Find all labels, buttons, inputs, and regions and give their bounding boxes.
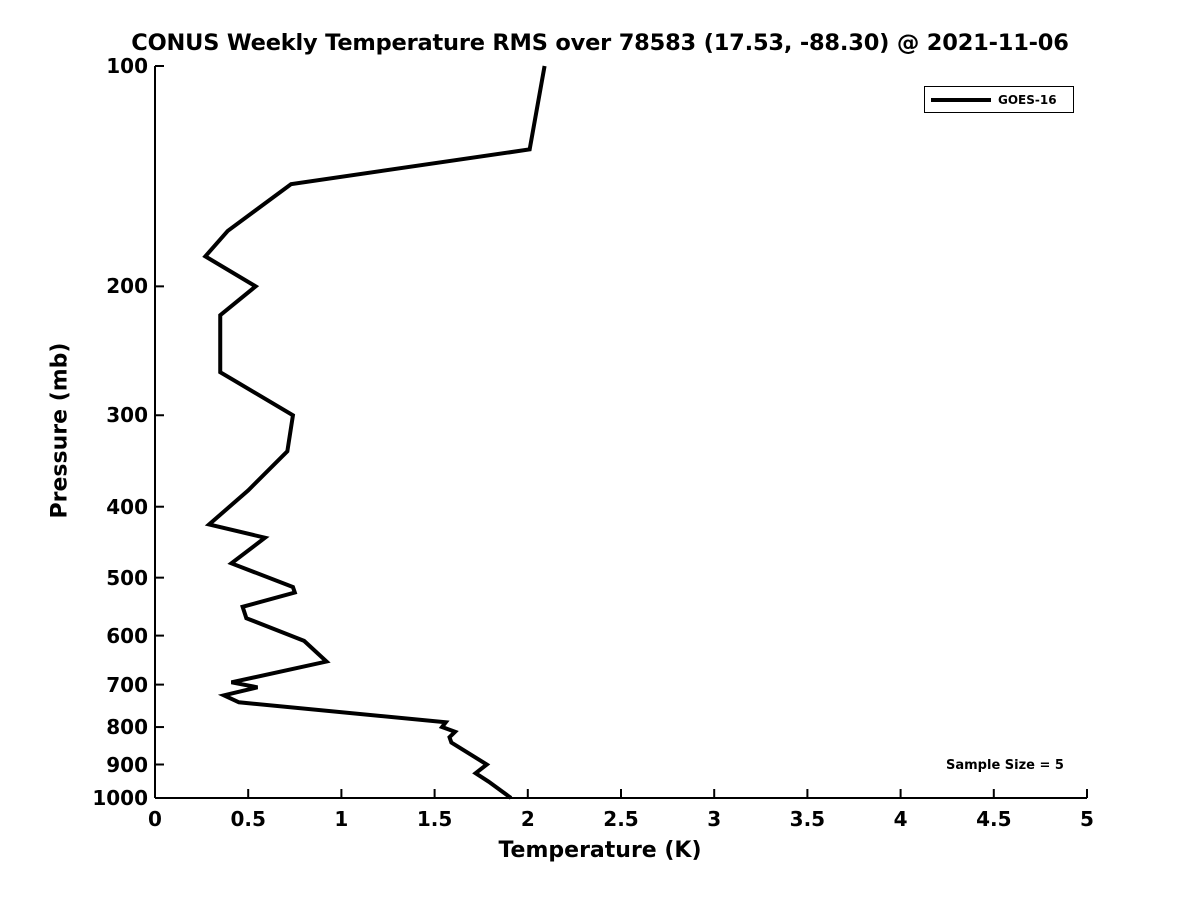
legend-label-goes-16: GOES-16 — [998, 93, 1057, 107]
y-tick-label-200: 200 — [20, 274, 148, 298]
y-tick-label-300: 300 — [20, 403, 148, 427]
x-tick-label-3: 3 — [707, 807, 721, 831]
temperature-rms-chart: CONUS Weekly Temperature RMS over 78583 … — [0, 0, 1200, 900]
y-tick-label-600: 600 — [20, 624, 148, 648]
x-tick-label-5: 5 — [1080, 807, 1094, 831]
sample-size-annotation: Sample Size = 5 — [946, 758, 1064, 773]
x-axis-label: Temperature (K) — [0, 838, 1200, 863]
y-tick-label-500: 500 — [20, 566, 148, 590]
legend: GOES-16 — [924, 86, 1074, 113]
x-tick-label-1.5: 1.5 — [417, 807, 452, 831]
x-tick-label-2: 2 — [521, 807, 535, 831]
y-tick-label-800: 800 — [20, 715, 148, 739]
y-tick-label-100: 100 — [20, 54, 148, 78]
x-tick-label-4.5: 4.5 — [976, 807, 1011, 831]
x-tick-label-3.5: 3.5 — [790, 807, 825, 831]
x-tick-label-0.5: 0.5 — [230, 807, 265, 831]
y-tick-label-900: 900 — [20, 753, 148, 777]
x-tick-label-0: 0 — [148, 807, 162, 831]
x-tick-label-4: 4 — [894, 807, 908, 831]
y-axis-label: Pressure (mb) — [48, 311, 73, 551]
x-tick-label-1: 1 — [334, 807, 348, 831]
y-tick-label-400: 400 — [20, 495, 148, 519]
y-tick-label-700: 700 — [20, 673, 148, 697]
legend-line-swatch-goes-16 — [931, 98, 991, 102]
axes — [155, 66, 1087, 798]
data-series — [205, 66, 544, 798]
y-tick-label-1000: 1000 — [20, 786, 148, 810]
x-tick-label-2.5: 2.5 — [603, 807, 638, 831]
